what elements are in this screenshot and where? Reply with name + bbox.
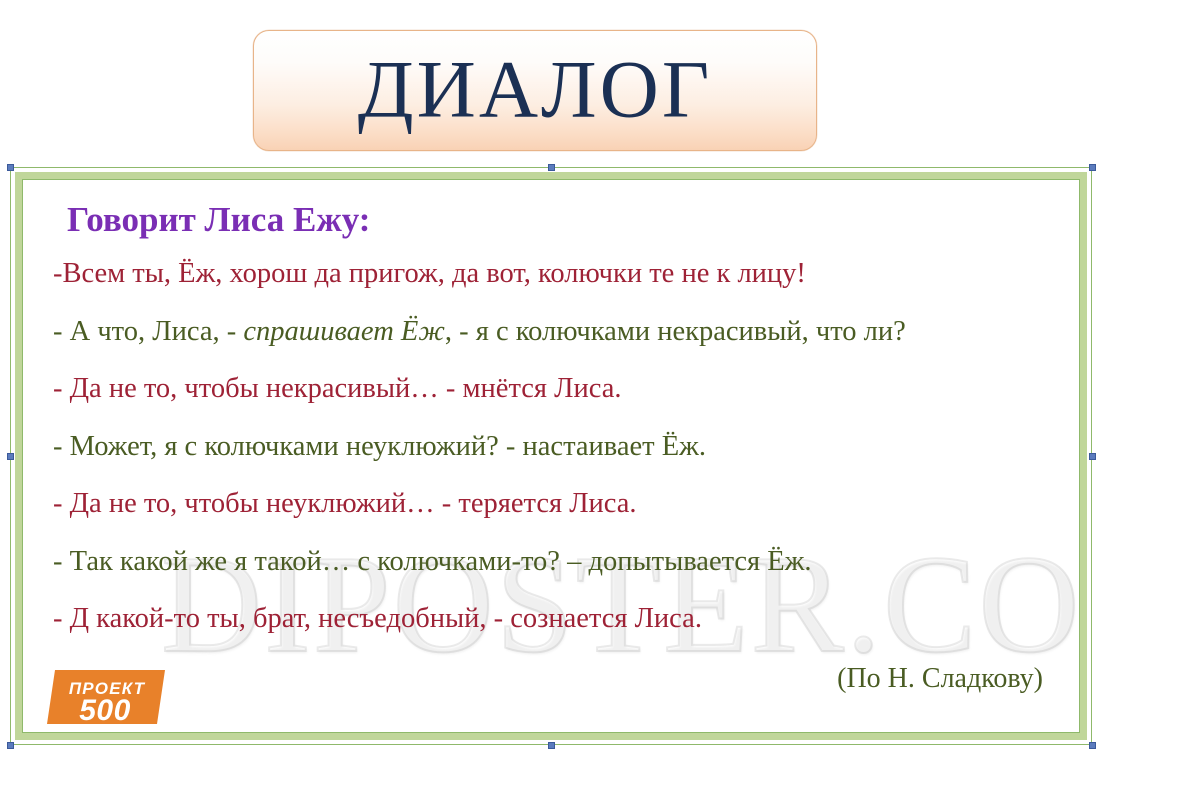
content-frame[interactable]: DIPOSTER.COM Говорит Лиса Ежу: -Всем ты,…	[10, 167, 1092, 745]
dialogue-content: Говорит Лиса Ежу: -Всем ты, Ёж, хорош да…	[23, 180, 1079, 732]
dialogue-line: - А что, Лиса, - спрашивает Ёж, - я с ко…	[53, 318, 1057, 347]
slide-canvas: ДИАЛОГ DIPOSTER.COM Говорит Лиса Ежу: -В…	[0, 0, 1200, 800]
dialogue-run: - Так какой же я такой… с колючками-то? …	[53, 546, 812, 577]
dialogue-line: - Д какой-то ты, брат, несъедобный, - со…	[53, 605, 1057, 634]
resize-handle-middle-right[interactable]	[1089, 453, 1096, 460]
dialogue-heading: Говорит Лиса Ежу:	[67, 200, 1057, 240]
dialogue-run-italic: спрашивает Ёж	[243, 316, 445, 347]
dialogue-run: , - я с колючками некрасивый, что ли?	[445, 316, 906, 347]
title-plaque[interactable]: ДИАЛОГ	[253, 30, 817, 151]
dialogue-run: -Всем ты, Ёж, хорош да пригож, да вот, к…	[53, 258, 806, 289]
attribution: (По Н. Сладкову)	[45, 663, 1043, 695]
resize-handle-bottom-left[interactable]	[7, 742, 14, 749]
frame-inner: DIPOSTER.COM Говорит Лиса Ежу: -Всем ты,…	[22, 179, 1080, 733]
dialogue-run: - А что, Лиса, -	[53, 316, 243, 347]
project-500-logo[interactable]: ПРОЕКТ 500	[45, 668, 167, 726]
frame-band: DIPOSTER.COM Говорит Лиса Ежу: -Всем ты,…	[15, 172, 1087, 740]
dialogue-lines: -Всем ты, Ёж, хорош да пригож, да вот, к…	[45, 260, 1057, 634]
dialogue-line: -Всем ты, Ёж, хорош да пригож, да вот, к…	[53, 260, 1057, 289]
dialogue-run: - Да не то, чтобы неуклюжий… - теряется …	[53, 488, 637, 519]
dialogue-line: - Да не то, чтобы неуклюжий… - теряется …	[53, 490, 1057, 519]
resize-handle-top-left[interactable]	[7, 164, 14, 171]
logo-shape: ПРОЕКТ 500	[45, 668, 167, 726]
dialogue-line: - Да не то, чтобы некрасивый… - мнётся Л…	[53, 375, 1057, 404]
resize-handle-bottom-right[interactable]	[1089, 742, 1096, 749]
dialogue-run: - Д какой-то ты, брат, несъедобный, - со…	[53, 603, 702, 634]
dialogue-line: - Может, я с колючками неуклюжий? - наст…	[53, 433, 1057, 462]
dialogue-line: - Так какой же я такой… с колючками-то? …	[53, 548, 1057, 577]
resize-handle-middle-left[interactable]	[7, 453, 14, 460]
page-title: ДИАЛОГ	[254, 48, 816, 130]
resize-handle-top-center[interactable]	[548, 164, 555, 171]
resize-handle-bottom-center[interactable]	[548, 742, 555, 749]
logo-line2: 500	[79, 694, 131, 726]
dialogue-run: - Да не то, чтобы некрасивый… - мнётся Л…	[53, 373, 622, 404]
resize-handle-top-right[interactable]	[1089, 164, 1096, 171]
dialogue-run: - Может, я с колючками неуклюжий? - наст…	[53, 431, 706, 462]
